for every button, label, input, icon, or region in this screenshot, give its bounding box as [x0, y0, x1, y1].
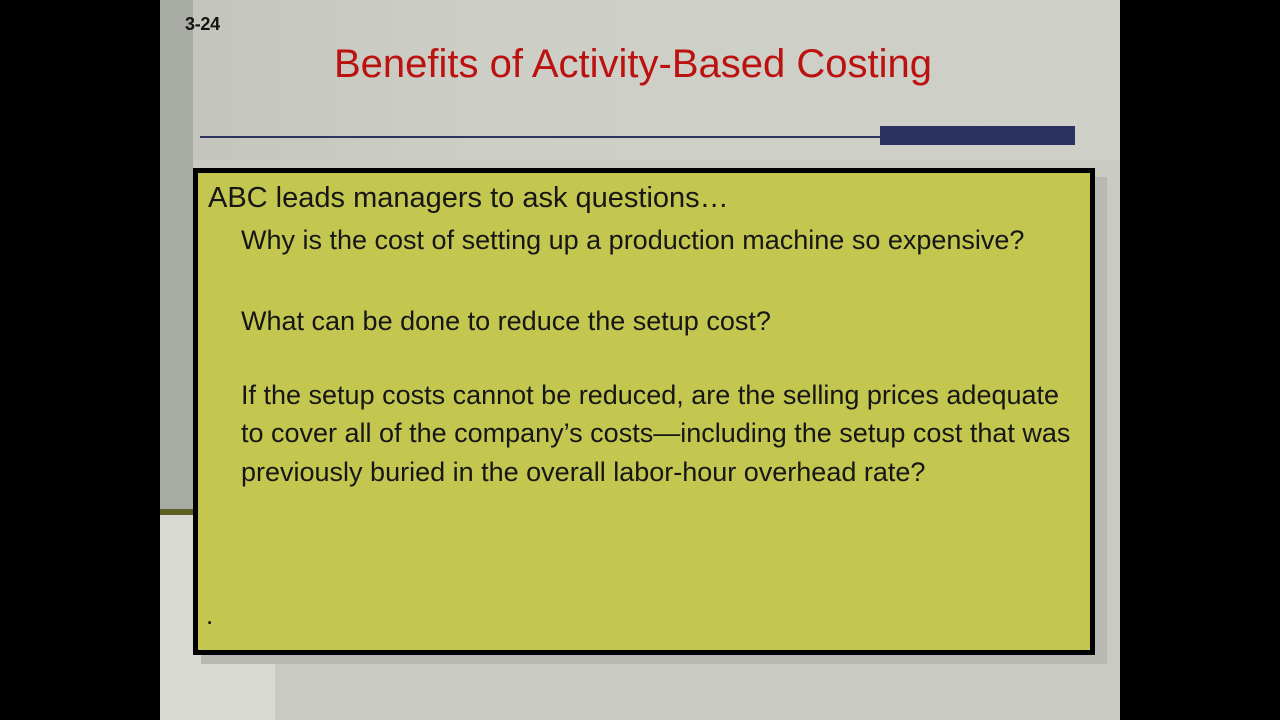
question-item-3: If the setup costs cannot be reduced, ar…	[208, 376, 1076, 491]
slide-left-accent-band	[160, 0, 193, 509]
slide-number: 3-24	[185, 14, 220, 35]
content-box: ABC leads managers to ask questions… Why…	[193, 168, 1095, 655]
question-item-1: Why is the cost of setting up a producti…	[208, 221, 1076, 259]
slide-title: Benefits of Activity-Based Costing	[193, 42, 1073, 87]
slide-left-accent-band-cap	[160, 509, 193, 515]
header-accent-tab	[880, 126, 1075, 145]
trailing-period-mark: .	[206, 602, 213, 628]
letterbox-bar-right	[1120, 0, 1280, 720]
content-box-inner: ABC leads managers to ask questions… Why…	[198, 173, 1090, 650]
slide-canvas: 3-24 Benefits of Activity-Based Costing …	[160, 0, 1120, 720]
presentation-viewer: 3-24 Benefits of Activity-Based Costing …	[0, 0, 1280, 720]
content-heading: ABC leads managers to ask questions…	[208, 181, 1076, 215]
letterbox-bar-left	[0, 0, 160, 720]
question-item-2: What can be done to reduce the setup cos…	[208, 302, 1076, 340]
